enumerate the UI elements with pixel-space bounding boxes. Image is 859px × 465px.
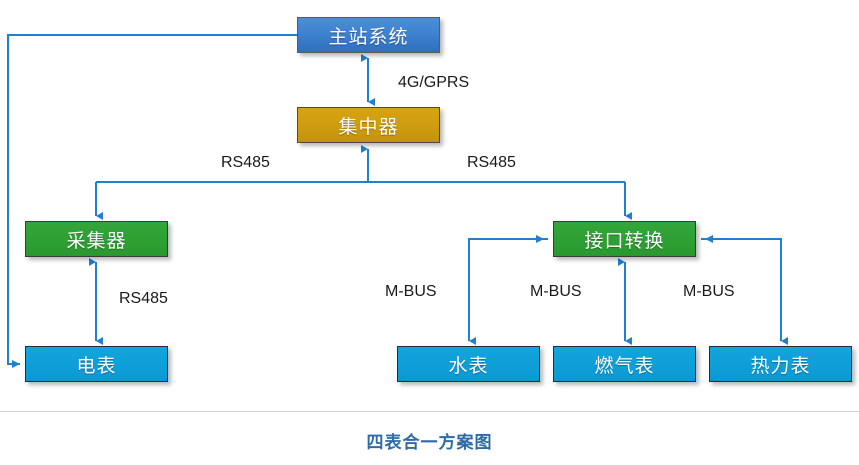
edge-label-rs485-right: RS485 (467, 154, 516, 172)
node-label: 集中器 (338, 112, 398, 139)
node-heat-meter[interactable]: 热力表 (709, 346, 852, 382)
node-label: 接口转换 (584, 226, 664, 253)
horizontal-divider (0, 411, 859, 412)
node-label: 电表 (76, 351, 116, 378)
node-interface-converter[interactable]: 接口转换 (553, 221, 696, 257)
diagram-canvas: 主站系统 集中器 采集器 接口转换 电表 水表 燃气表 热力表 4G/GPRS … (0, 0, 859, 465)
node-concentrator[interactable]: 集中器 (297, 107, 440, 143)
node-label: 采集器 (66, 226, 126, 253)
node-master-system[interactable]: 主站系统 (297, 17, 440, 53)
node-gas-meter[interactable]: 燃气表 (553, 346, 696, 382)
edge-label-rs485-left: RS485 (221, 154, 270, 172)
edge-label-mbus-gas: M-BUS (530, 283, 582, 301)
edge-label-4g-gprs: 4G/GPRS (398, 74, 469, 92)
node-label: 水表 (448, 351, 488, 378)
edge-label-mbus-water: M-BUS (385, 283, 437, 301)
diagram-caption: 四表合一方案图 (0, 428, 859, 453)
node-collector[interactable]: 采集器 (25, 221, 168, 257)
edge-label-mbus-heat: M-BUS (683, 283, 735, 301)
node-label: 燃气表 (594, 351, 654, 378)
node-label: 主站系统 (328, 22, 408, 49)
node-label: 热力表 (750, 351, 810, 378)
node-electric-meter[interactable]: 电表 (25, 346, 168, 382)
connector-emeter-master-loop (8, 35, 297, 364)
edge-label-rs485-electric-meter: RS485 (119, 290, 168, 308)
node-water-meter[interactable]: 水表 (397, 346, 540, 382)
